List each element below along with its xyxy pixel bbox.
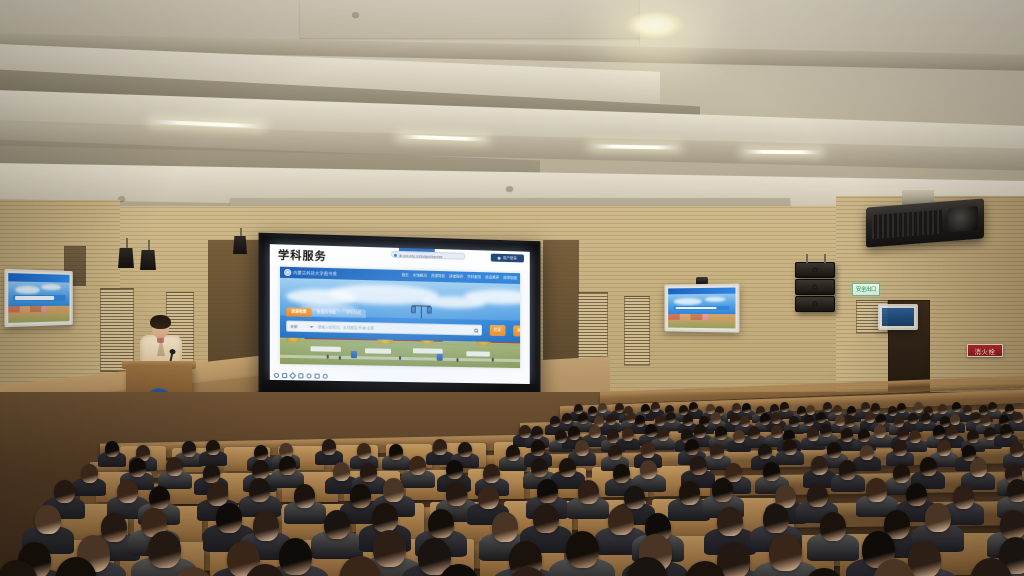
hanging-speaker [118,248,134,268]
seat-back [390,539,474,576]
seat-back [750,535,834,576]
seat-back [468,469,524,499]
seat-back [652,499,720,539]
search-button[interactable]: 检索 [490,325,505,336]
audience-seating [0,392,1024,576]
grid-icon[interactable] [306,373,311,378]
seat-back [440,443,486,467]
seat-back [406,470,462,500]
zoom-icon[interactable] [282,373,287,378]
seat-back [930,533,1024,575]
mirrored-slide [668,288,735,329]
menu-item[interactable]: 学科服务 [467,275,481,280]
menu-item[interactable]: 信息素养 [485,275,499,280]
projected-slide: 学科服务 lib.xxx.edu.cn/subject/service 用户登录… [270,244,530,384]
seat-back [660,536,744,576]
seat-back [726,498,794,538]
speaker-mount-rod [824,254,826,263]
seat-back [134,506,202,546]
seat-back [386,444,432,468]
menu-item[interactable]: 规章制度 [503,276,517,281]
smoke-detector-icon [352,12,359,17]
wall-speaker [795,296,835,312]
library-website: 内蒙古科技大学图书馆 首页 本馆概况 资源导航 读者服务 学科服务 信息素养 规… [280,267,520,368]
fire-hydrant-label: 消火栓 [975,346,996,356]
seat-back [504,501,572,541]
seat-back [282,504,350,544]
advanced-search-button[interactable]: 高级检索 [513,325,520,336]
seat-back [592,467,648,497]
hanging-speaker [140,250,156,270]
more-icon[interactable] [323,374,328,379]
seat-back [430,502,498,542]
seat-back [220,473,276,503]
seat-back [332,445,378,469]
site-menu: 首页 本馆概况 资源导航 读者服务 学科服务 信息素养 规章制度 [402,273,518,281]
speaker-mount-rod [806,254,808,263]
seat-back [578,500,646,540]
left-wall-monitor [4,269,72,327]
address-value: lib.xxx.edu.cn/subject/service [399,252,443,259]
login-button[interactable]: 用户登录 [491,254,524,263]
chevron-down-icon [310,326,314,328]
seat-back [278,446,324,470]
search-tabs: 资源检索 数据库导航 学科导航 [286,307,366,318]
wall-speaker [795,279,835,295]
projection-screen: 学科服务 lib.xxx.edu.cn/subject/service 用户登录… [259,233,541,409]
seat-back [282,472,338,502]
wall-vent [624,296,650,366]
wall-speaker [795,262,835,278]
tab-database-nav[interactable]: 数据库导航 [312,308,341,318]
menu-item[interactable]: 首页 [402,273,409,278]
lecture-hall-photo: 安全出口 消火栓 [0,0,1024,576]
seat-back [120,446,166,470]
search-scope-value: 全部 [290,324,297,329]
ceiling-round-light [624,12,686,40]
search-icon [474,328,478,332]
pointer-icon[interactable] [274,373,279,378]
door-window-monitor [878,304,918,330]
tab-resource-search[interactable]: 资源检索 [286,307,312,317]
seat-back [494,442,540,466]
seat-back [530,468,586,498]
site-logo[interactable]: 内蒙古科技大学图书馆 [284,269,337,277]
ceiling-panel [300,0,640,38]
menu-item[interactable]: 本馆概况 [413,273,427,278]
seat-back [158,474,214,504]
seat-back [60,504,128,544]
fire-hydrant-sign: 消火栓 [967,344,1003,357]
site-logo-text: 内蒙古科技大学图书馆 [293,270,337,277]
user-icon [498,256,501,259]
slide-toolbar [274,373,328,379]
seat-back [210,541,294,576]
seat-back [96,472,152,502]
exit-sign-label: 安全出口 [856,287,876,293]
seat-back [172,448,218,472]
slide-title: 学科服务 [278,246,327,264]
smoke-detector-icon [506,186,513,191]
exit-sign: 安全出口 [852,283,880,296]
seat-back [654,466,710,496]
browser-address-bar[interactable]: lib.xxx.edu.cn/subject/service [391,251,465,260]
seat-back [224,447,270,471]
seat-back [356,503,424,543]
seat-back [120,542,204,576]
menu-item[interactable]: 资源导航 [431,274,445,279]
seat-back [480,538,564,576]
seat-back [300,540,384,576]
eraser-icon[interactable] [298,373,303,378]
seat-back [570,537,654,576]
seat-back [208,505,276,545]
tab-subject-nav[interactable]: 学科导航 [341,309,366,319]
wall-vent [100,288,134,372]
seat-back [344,471,400,501]
site-favicon-icon [394,253,397,256]
pen-icon[interactable] [289,372,296,379]
hanging-speaker [233,236,247,254]
right-wall-monitor [664,283,739,332]
mirrored-slide [8,273,69,323]
search-placeholder: 请输入检索词，支持题名/作者/主题 [318,325,374,331]
ceiling-strip-light [742,150,822,155]
projector-lens-icon [948,206,978,232]
save-icon[interactable] [315,374,320,379]
seat-back [30,540,114,576]
seat-back [840,534,924,576]
login-label: 用户登录 [503,255,517,260]
search-input[interactable]: 全部 请输入检索词，支持题名/作者/主题 [286,320,482,335]
menu-item[interactable]: 读者服务 [449,274,463,279]
university-seal-icon [284,269,291,276]
